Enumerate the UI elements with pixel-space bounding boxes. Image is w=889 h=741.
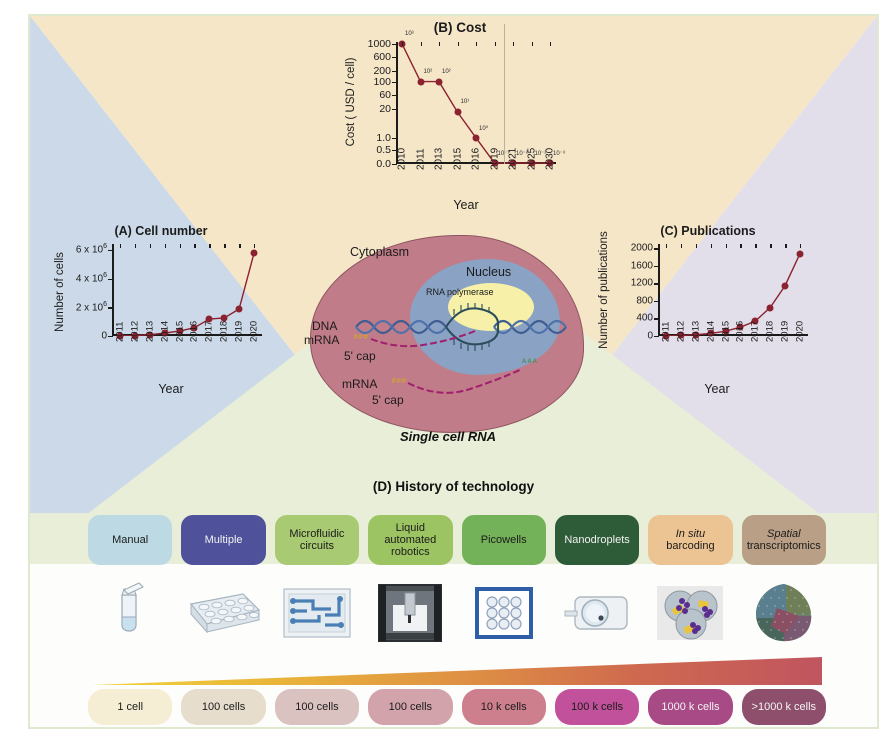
chart-cell-number-x-tick-2012: 2012 [129, 321, 140, 342]
multiwell-plate-icon [181, 572, 265, 654]
throughput-pill-100-k-cells[interactable]: 100 k cells [555, 689, 639, 725]
chart-cell-number-y-tick-3: 6 x 106 [76, 244, 112, 256]
liquid-handler-icon [368, 572, 452, 654]
technology-card-barcoding[interactable]: In situbarcoding [648, 515, 732, 565]
x-tick-mark [755, 244, 756, 248]
dna-label: DNA [312, 319, 337, 333]
x-tick-mark [458, 42, 459, 46]
chart-cost-annotation-2013: 10² [442, 69, 451, 75]
throughput-pill-label: 1000 k cells [661, 701, 719, 713]
microfluidic-chip-icon [275, 572, 359, 654]
cap-label-1: 5' cap [344, 349, 376, 363]
x-tick-mark [254, 244, 255, 248]
chart-publications-x-tick-2012: 2012 [675, 321, 686, 342]
in-situ-barcoding-icon [648, 572, 732, 654]
throughput-pill-100-cells[interactable]: 100 cells [181, 689, 265, 725]
x-tick-mark [209, 244, 210, 248]
spatial-tissue-icon [742, 572, 826, 654]
chart-publications-x-tick-2018: 2018 [765, 321, 776, 342]
chart-cost-point-2013 [436, 78, 443, 85]
chart-cost-x-tick-2019: 2019 [489, 148, 500, 170]
technology-card-label: In situbarcoding [666, 528, 714, 553]
center-caption: Single cell RNA [298, 429, 598, 444]
chart-cost-x-tick-2010: 2010 [397, 148, 408, 170]
microtube-icon [88, 572, 172, 654]
chart-publications-x-tick-2020: 2020 [795, 321, 806, 342]
chart-cell-number-x-tick-2013: 2013 [144, 321, 155, 342]
technology-card-multiple[interactable]: Multiple [181, 515, 265, 565]
x-tick-mark [421, 42, 422, 46]
chart-cost-annotation-2015: 10¹ [461, 99, 470, 105]
technology-card-label: Liquid automated robotics [371, 522, 449, 559]
chart-cell-number-x-tick-2019: 2019 [234, 321, 245, 342]
cap-label-2: 5' cap [372, 393, 404, 407]
chart-publications-point-2020 [797, 250, 804, 257]
x-tick-mark [785, 244, 786, 248]
x-tick-mark [402, 42, 403, 46]
technology-card-transcriptomics[interactable]: Spatialtranscriptomics [742, 515, 826, 565]
chart-cost-point-2016 [473, 134, 480, 141]
chart-cost-ylabel: Cost ( USD / cell) [345, 37, 357, 167]
technology-card-label: Picowells [481, 534, 527, 546]
chart-cost-series [396, 42, 556, 164]
y-tick-mark [108, 336, 113, 337]
x-tick-mark [180, 244, 181, 248]
x-tick-mark [681, 244, 682, 248]
chart-cost: (B) Cost Cost ( USD / cell) 0.00.51.0206… [330, 20, 590, 220]
picowell-plate-icon [462, 572, 546, 654]
chart-publications-point-2018 [767, 304, 774, 311]
chart-cell-number-title: (A) Cell number [36, 224, 286, 238]
chart-cell-number-point-2019 [236, 305, 243, 312]
chart-cell-number-xlabel: Year [76, 382, 266, 396]
technology-card-label: Manual [112, 534, 148, 546]
aaa-label: AAA [522, 359, 538, 365]
technology-card-label: Multiple [205, 534, 243, 546]
chart-publications-title: (C) Publications [578, 224, 838, 238]
throughput-pill--1000-k-cells[interactable]: >1000 k cells [742, 689, 826, 725]
x-tick-mark [135, 244, 136, 248]
x-tick-mark [800, 244, 801, 248]
technology-card-nanodroplets[interactable]: Nanodroplets [555, 515, 639, 565]
x-tick-mark [666, 244, 667, 248]
throughput-pill-list: 1 cell100 cells100 cells100 cells10 k ce… [88, 689, 826, 725]
chart-cell-number-ylabel: Number of cells [54, 232, 66, 352]
chart-publications-xlabel: Year [622, 382, 812, 396]
figure-frame: (B) Cost Cost ( USD / cell) 0.00.51.0206… [28, 14, 879, 729]
chart-cell-number-plot: 02 x 1064 x 1066 x 106201120122013201420… [112, 244, 262, 336]
mrna-label-1: mRNA [304, 333, 339, 347]
x-tick-mark [495, 42, 496, 46]
technology-card-manual[interactable]: Manual [88, 515, 172, 565]
technology-card-label: Microfluidic circuits [278, 528, 356, 553]
throughput-pill-100-cells[interactable]: 100 cells [275, 689, 359, 725]
throughput-pill-100-cells[interactable]: 100 cells [368, 689, 452, 725]
x-tick-mark [194, 244, 195, 248]
chart-cell-number-point-2020 [251, 250, 258, 257]
chart-cost-x-tick-2011: 2011 [415, 148, 426, 170]
x-tick-mark [696, 244, 697, 248]
chart-cell-number-x-tick-2018: 2018 [219, 321, 230, 342]
x-tick-mark [550, 42, 551, 46]
cell-diagram: Cytoplasm Nucleus RNA polymerase DNA mRN… [298, 231, 598, 461]
rna-polymerase-label: RNA polymerase [426, 287, 494, 297]
chart-cell-number-y-tick-1: 2 x 106 [76, 301, 112, 313]
chart-cell-number-x-tick-2017: 2017 [204, 321, 215, 342]
throughput-pill-label: 1 cell [117, 701, 143, 713]
throughput-pill-label: 10 k cells [481, 701, 527, 713]
x-tick-mark [711, 244, 712, 248]
dna-mrna-strands [298, 231, 598, 461]
x-tick-mark [513, 42, 514, 46]
chart-cost-x-tick-2013: 2013 [434, 148, 445, 170]
ppp-label-1: PPP [354, 335, 369, 341]
chart-cell-number-x-tick-2014: 2014 [159, 321, 170, 342]
technology-card-list: ManualMultipleMicrofluidic circuitsLiqui… [88, 515, 826, 565]
throughput-pill-label: 100 k cells [571, 701, 623, 713]
throughput-pill-label: 100 cells [295, 701, 338, 713]
chart-publications-x-tick-2015: 2015 [720, 321, 731, 342]
x-tick-mark [120, 244, 121, 248]
technology-card-liquid-automated-robotics[interactable]: Liquid automated robotics [368, 515, 452, 565]
technology-card-microfluidic-circuits[interactable]: Microfluidic circuits [275, 515, 359, 565]
chart-publications-plot: 0400800120016002000201120122013201420152… [658, 244, 808, 336]
y-tick-mark [654, 336, 659, 337]
chart-cost-title: (B) Cost [330, 20, 590, 35]
figure-root: (B) Cost Cost ( USD / cell) 0.00.51.0206… [0, 0, 889, 741]
throughput-pill-label: 100 cells [389, 701, 432, 713]
x-tick-mark [740, 244, 741, 248]
chart-publications-x-tick-2011: 2011 [661, 322, 672, 342]
chart-cost-x-tick-2030: 2030 [545, 148, 556, 170]
throughput-pill-10-k-cells[interactable]: 10 k cells [462, 689, 546, 725]
throughput-pill-1-cell[interactable]: 1 cell [88, 689, 172, 725]
technology-card-label: Spatialtranscriptomics [747, 528, 821, 553]
chart-publications-x-tick-2016: 2016 [735, 321, 746, 342]
technology-card-label-italic: In situ [676, 528, 705, 540]
chart-publications-ylabel: Number of publications [598, 220, 610, 360]
chart-cost-annotation-2011: 10² [424, 69, 433, 75]
chart-cell-number-x-tick-2016: 2016 [189, 321, 200, 342]
nucleus-label: Nucleus [466, 265, 511, 279]
chart-publications-x-tick-2013: 2013 [690, 321, 701, 342]
chart-cell-number-x-tick-2011: 2011 [115, 322, 126, 342]
chart-cell-number-x-tick-2015: 2015 [174, 321, 185, 342]
chart-publications-point-2019 [782, 282, 789, 289]
throughput-pill-label: 100 cells [202, 701, 245, 713]
x-tick-mark [770, 244, 771, 248]
technology-illustration-list [88, 572, 826, 654]
chart-cost-annotation-2016: 10⁰ [479, 125, 488, 132]
chart-cell-number: (A) Cell number Number of cells 02 x 106… [36, 224, 286, 414]
technology-card-label: Nanodroplets [564, 534, 629, 546]
x-tick-mark [726, 244, 727, 248]
chart-publications-x-tick-2014: 2014 [705, 321, 716, 342]
cytoplasm-label: Cytoplasm [350, 245, 409, 259]
x-tick-mark [439, 42, 440, 46]
nanodroplet-device-icon [555, 572, 639, 654]
x-tick-mark [532, 42, 533, 46]
chart-cost-x-tick-2021: 2021 [508, 148, 519, 170]
x-tick-mark [165, 244, 166, 248]
chart-cost-point-2011 [417, 78, 424, 85]
chart-cost-future-divider [504, 24, 505, 164]
technology-card-label-italic: Spatial [767, 528, 801, 540]
x-tick-mark [476, 42, 477, 46]
chart-cost-x-tick-2015: 2015 [452, 148, 463, 170]
throughput-pill-label: >1000 k cells [752, 701, 817, 713]
history-title: (D) History of technology [30, 479, 877, 494]
chart-cost-x-tick-2016: 2016 [471, 148, 482, 170]
chart-cost-point-2015 [454, 109, 461, 116]
chart-publications-x-tick-2019: 2019 [780, 321, 791, 342]
x-tick-mark [239, 244, 240, 248]
chart-publications-x-tick-2017: 2017 [750, 321, 761, 342]
chart-cost-plot: 0.00.51.02060100200600100010³10²10²10¹10… [396, 42, 556, 164]
chart-cost-xlabel: Year [366, 198, 566, 212]
chart-cost-x-tick-2025: 2025 [526, 148, 537, 170]
x-tick-mark [150, 244, 151, 248]
chart-cell-number-y-tick-2: 4 x 106 [76, 272, 112, 284]
chart-cost-annotation-2010: 10³ [405, 31, 414, 37]
ppp-label-2: PPP [392, 379, 407, 385]
mrna-label-2: mRNA [342, 377, 377, 391]
x-tick-mark [224, 244, 225, 248]
chart-cell-number-x-tick-2020: 2020 [249, 321, 260, 342]
technology-card-picowells[interactable]: Picowells [462, 515, 546, 565]
chart-publications: (C) Publications Number of publications … [578, 224, 838, 414]
throughput-pill-1000-k-cells[interactable]: 1000 k cells [648, 689, 732, 725]
